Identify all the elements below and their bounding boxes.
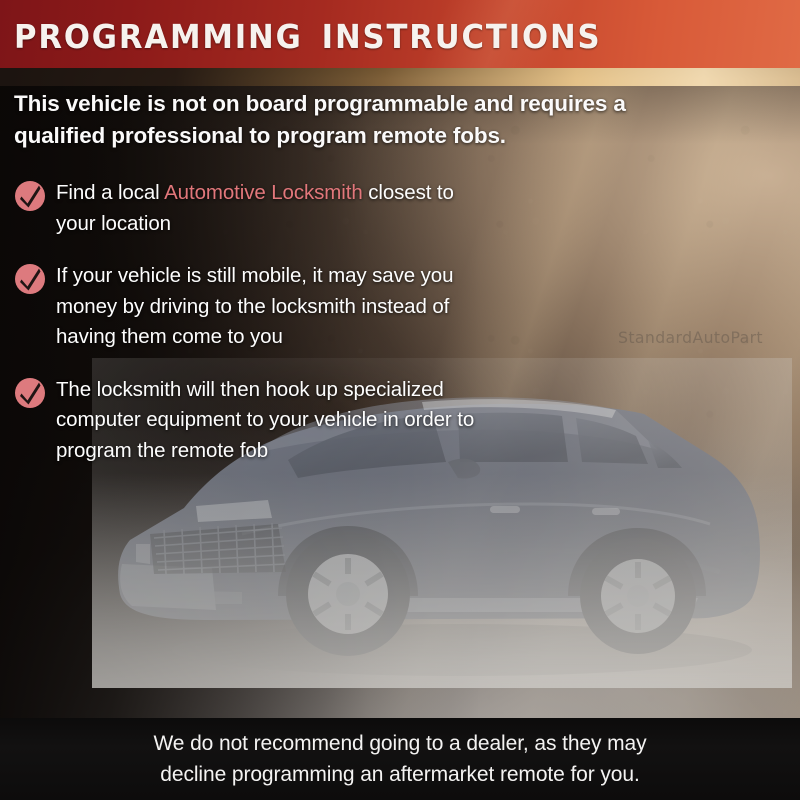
list-item: If your vehicle is still mobile, it may … — [14, 261, 484, 353]
footer-line-1: We do not recommend going to a dealer, a… — [153, 728, 646, 759]
footer-line-2: decline programming an aftermarket remot… — [160, 759, 639, 790]
watermark: StandardAutoPart — [618, 328, 763, 347]
header-underglow-band — [0, 68, 800, 86]
page-title: PROGRAMMING INSTRUCTIONS — [14, 17, 601, 56]
list-item-text: If your vehicle is still mobile, it may … — [56, 261, 484, 353]
intro-statement: This vehicle is not on board programmabl… — [14, 88, 754, 152]
programming-instructions-graphic: PROGRAMMING INSTRUCTIONS This vehicle is… — [0, 0, 800, 800]
intro-line-1: This vehicle is not on board programmabl… — [14, 88, 754, 120]
check-circle-icon — [14, 377, 46, 409]
check-circle-icon — [14, 180, 46, 212]
list-item: Find a local Automotive Locksmith closes… — [14, 178, 484, 239]
list-item-text: Find a local Automotive Locksmith closes… — [56, 178, 484, 239]
footer-note: We do not recommend going to a dealer, a… — [0, 718, 800, 800]
list-item-lead: Find a local — [56, 181, 164, 204]
list-item: The locksmith will then hook up speciali… — [14, 375, 484, 467]
list-item-text: The locksmith will then hook up speciali… — [56, 375, 484, 467]
instruction-list: Find a local Automotive Locksmith closes… — [14, 178, 484, 488]
intro-line-2: qualified professional to program remote… — [14, 120, 754, 152]
check-circle-icon — [14, 263, 46, 295]
list-item-highlight: Automotive Locksmith — [164, 181, 363, 204]
